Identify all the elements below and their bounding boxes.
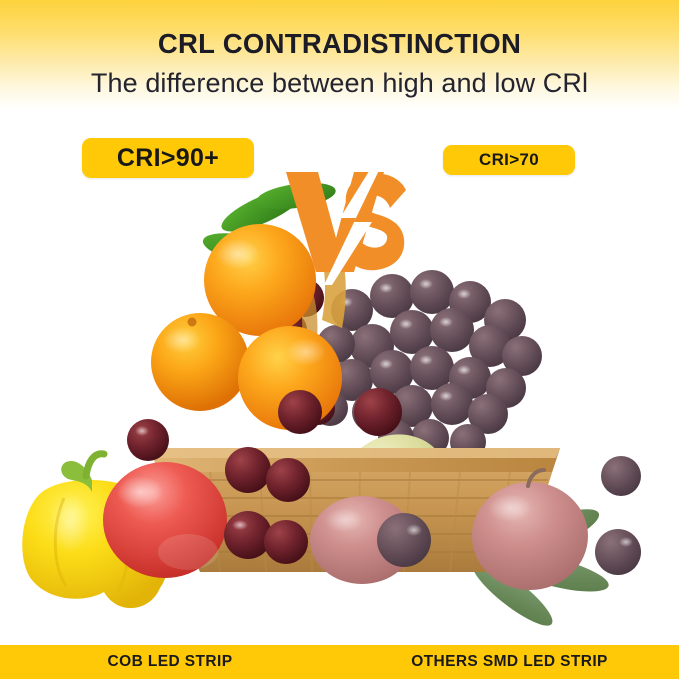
footer-label-smd: OTHERS SMD LED STRIP (340, 645, 679, 679)
comparison-infographic: CRL CONTRADISTINCTION The difference bet… (0, 0, 679, 679)
badge-cri-low[interactable]: CRI>70 (443, 145, 575, 175)
footer-bar: COB LED STRIP OTHERS SMD LED STRIP (0, 645, 679, 679)
badge-cri-high[interactable]: CRI>90+ (82, 138, 254, 178)
apple-vivid (103, 462, 227, 578)
vs-graphic (280, 160, 415, 285)
grape-cluster-dull (312, 270, 542, 460)
page-subtitle: The difference between high and low CRl (0, 68, 679, 99)
badge-cri-high-label: CRI>90+ (117, 144, 219, 173)
page-title: CRL CONTRADISTINCTION (0, 28, 679, 60)
orange-middle (151, 313, 249, 411)
footer-label-cob: COB LED STRIP (0, 645, 340, 679)
badge-cri-low-label: CRI>70 (479, 150, 539, 170)
